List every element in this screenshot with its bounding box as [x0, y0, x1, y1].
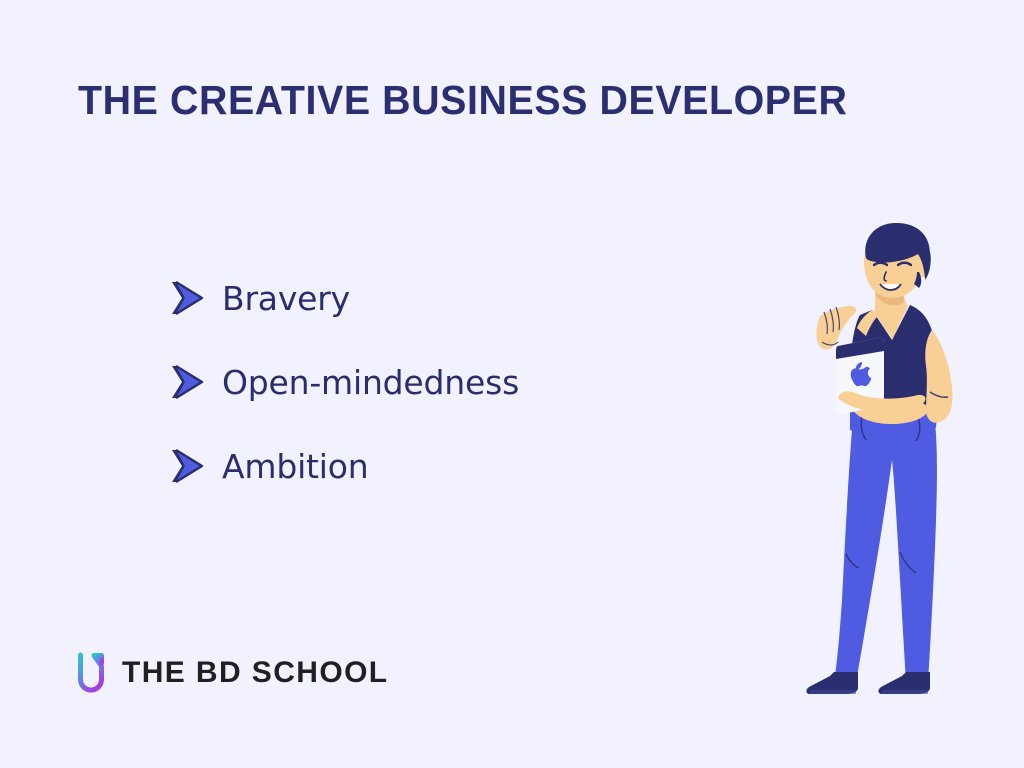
slide-canvas: THE CREATIVE BUSINESS DEVELOPER Bravery	[0, 0, 1024, 768]
person-holding-tablet-illustration	[780, 220, 1024, 720]
bd-school-droplet-mark-icon	[74, 652, 108, 694]
list-item: Ambition	[168, 440, 768, 492]
list-item: Bravery	[168, 272, 768, 324]
list-item-label: Bravery	[222, 282, 350, 315]
list-item-label: Ambition	[222, 450, 368, 483]
brand-logo-text: THE BD SCHOOL	[122, 658, 389, 688]
double-chevron-arrow-icon	[168, 278, 208, 318]
brand-logo: THE BD SCHOOL	[74, 652, 389, 694]
bullet-list: Bravery Open-mindedness Ambition	[168, 272, 768, 524]
double-chevron-arrow-icon	[168, 446, 208, 486]
page-title: THE CREATIVE BUSINESS DEVELOPER	[78, 78, 847, 123]
list-item-label: Open-mindedness	[222, 366, 519, 399]
double-chevron-arrow-icon	[168, 362, 208, 402]
list-item: Open-mindedness	[168, 356, 768, 408]
